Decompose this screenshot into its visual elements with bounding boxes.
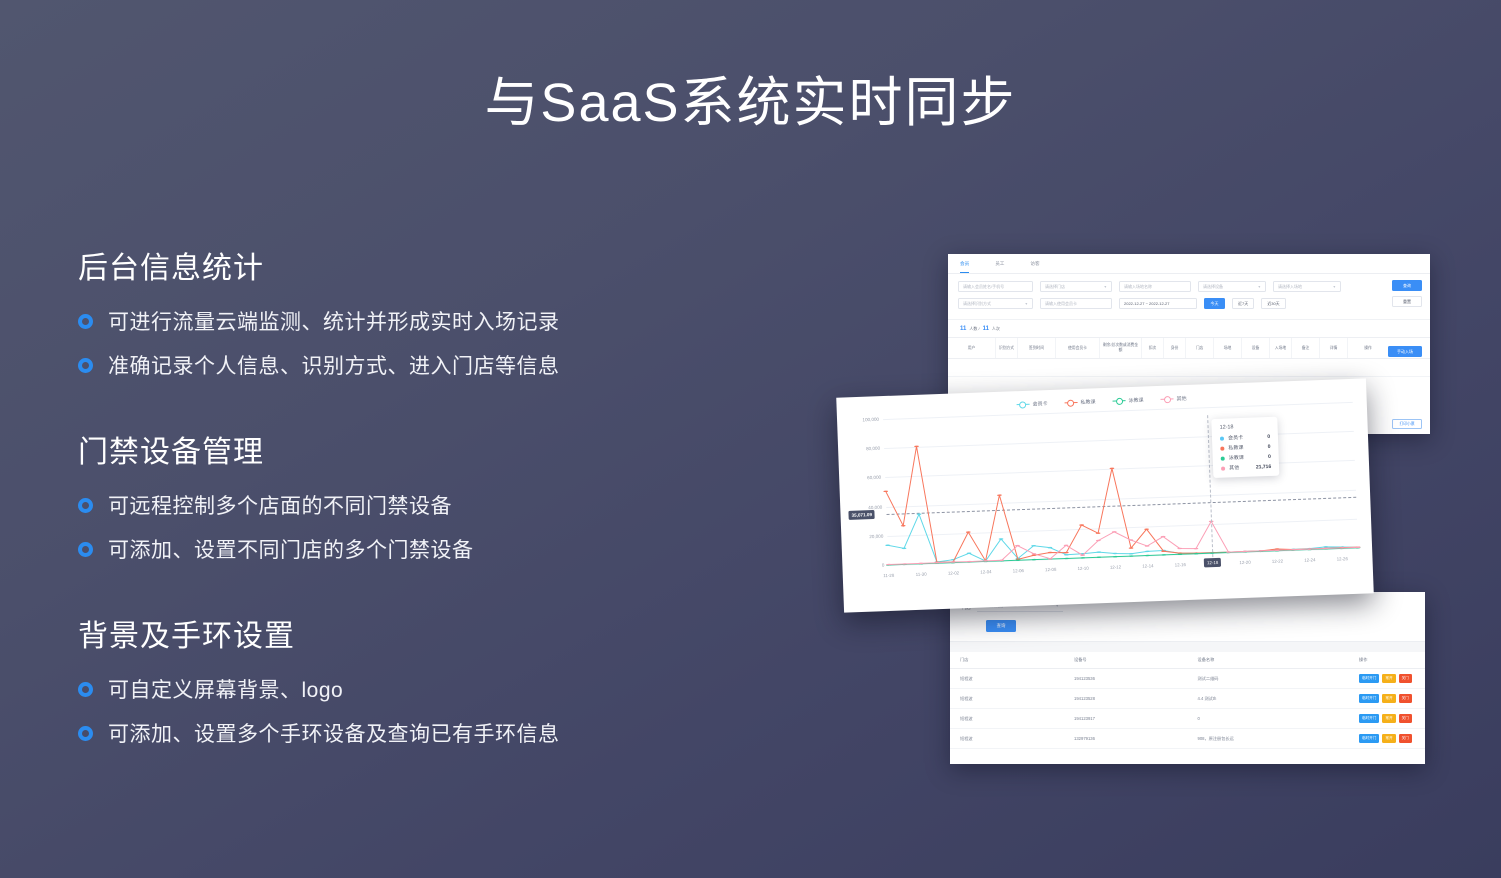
open-always-button[interactable]: 常开 (1382, 674, 1395, 683)
legend-label: 泳教课 (1128, 397, 1143, 405)
bullet-icon (78, 682, 93, 697)
open-temporary-button[interactable]: 临时开门 (1359, 734, 1379, 743)
feature-text: 可添加、设置多个手环设备及查询已有手环信息 (108, 718, 560, 748)
feature-text: 可远程控制多个店面的不同门禁设备 (108, 490, 452, 520)
chevron-down-icon: ▼ (1333, 285, 1336, 289)
legend-label: 私教课 (1080, 398, 1095, 406)
x-axis-tick-label: 12-20 (1239, 560, 1250, 565)
bullet-icon (78, 498, 93, 513)
tooltip-series-value: 0 (1268, 453, 1271, 459)
feature-block-1: 门禁设备管理 可远程控制多个店面的不同门禁设备 可添加、设置不同门店的多个门禁设… (78, 427, 778, 564)
cell-device-name: 4.4 测试th (1188, 689, 1350, 709)
x-axis-tick-label: 12-14 (1142, 563, 1153, 568)
series-point (997, 494, 1002, 496)
th-remaining: 剩余/总次数或消费金额 (1100, 338, 1142, 358)
legend-label: 会员卡 (1032, 400, 1047, 408)
feature-item: 可添加、设置不同门店的多个门禁设备 (78, 534, 778, 564)
device-query-button[interactable]: 查询 (986, 620, 1016, 632)
store-select[interactable]: 请选择门店▼ (1040, 281, 1112, 292)
tooltip-row: 泳教课 0 (1221, 453, 1271, 462)
series-point (1129, 553, 1134, 555)
filter-actions: 查询 重置 (1392, 280, 1422, 307)
close-door-button[interactable]: 关门 (1399, 674, 1412, 683)
bullet-icon (78, 358, 93, 373)
th-identity: 身份 (1164, 338, 1186, 358)
open-always-button[interactable]: 常开 (1382, 694, 1395, 703)
placeholder-text: 请输入使用会员卡 (1045, 301, 1077, 307)
cell-store: 短程波 (950, 669, 1064, 689)
open-always-button[interactable]: 常开 (1382, 734, 1395, 743)
range-today-button[interactable]: 今天 (1204, 298, 1225, 309)
close-door-button[interactable]: 关门 (1399, 694, 1412, 703)
x-axis-tick-label: 12-26 (1337, 556, 1348, 561)
cell-device-no: 194123528 (1064, 689, 1188, 709)
feature-item: 可进行流量云端监测、统计并形成实时入场记录 (78, 306, 778, 336)
chevron-down-icon: ▼ (1104, 285, 1107, 289)
th-store: 门店 (1186, 338, 1214, 358)
feature-item: 准确记录个人信息、识别方式、进入门店等信息 (78, 350, 778, 380)
cell-store: 短程波 (950, 709, 1064, 729)
cell-operations: 临时开门 常开 关门 (1349, 709, 1425, 729)
legend-marker-icon (1065, 402, 1078, 404)
member-name-input[interactable]: 请输入会员姓名/手机号 (958, 281, 1033, 292)
open-always-button[interactable]: 常开 (1382, 714, 1395, 723)
device-management-screenshot: 门店 --请选择门店-- ▼ 查询 门店 设备号 设备名称 操作 短程波 194… (950, 592, 1425, 764)
series-point (1323, 546, 1328, 548)
tooltip-series-value: 0 (1268, 443, 1271, 449)
x-axis-tick-label: 12-08 (1045, 567, 1056, 572)
open-temporary-button[interactable]: 临时开门 (1359, 694, 1379, 703)
series-point (883, 490, 888, 492)
manual-entry-button[interactable]: 手动入场 (1388, 346, 1422, 357)
chevron-down-icon: ▼ (1025, 302, 1028, 306)
tooltip-series-name: 私教课 (1228, 443, 1267, 451)
range-30days-button[interactable]: 近30天 (1261, 298, 1285, 309)
table-row[interactable]: 短程波 194123536 测试二维码 临时开门 常开 关门 (950, 669, 1425, 689)
feature-item: 可自定义屏幕背景、logo (78, 674, 778, 704)
x-axis-tick-label: 12-24 (1304, 557, 1315, 562)
operation-buttons: 临时开门 常开 关门 (1359, 734, 1425, 743)
legend-item[interactable]: 私教课 (1064, 398, 1095, 406)
operation-buttons: 临时开门 常开 关门 (1359, 694, 1425, 703)
date-range-input[interactable]: 2022-12-27 ~ 2022-12-27 (1119, 298, 1197, 309)
series-point (1275, 548, 1280, 550)
legend-label: 其他 (1176, 395, 1186, 402)
cell-device-name: 908，原注册包长远 (1188, 729, 1350, 749)
section-divider (950, 641, 1425, 652)
visits-count: 11 (983, 326, 989, 332)
cell-device-no: 194123917 (1064, 709, 1188, 729)
th-operation: 操作 (1348, 338, 1388, 358)
feature-heading: 后台信息统计 (78, 243, 778, 287)
series-dot-icon (1221, 456, 1225, 460)
placeholder-text: 请输入场地名称 (1124, 284, 1152, 290)
feature-text: 可添加、设置不同门店的多个门禁设备 (108, 534, 474, 564)
tooltip-series-name: 泳教课 (1229, 453, 1268, 461)
th-device-no: 设备号 (1064, 652, 1188, 669)
legend-marker-icon (1161, 398, 1174, 400)
open-temporary-button[interactable]: 临时开门 (1359, 714, 1379, 723)
reset-button[interactable]: 重置 (1392, 296, 1422, 307)
cell-operations: 临时开门 常开 关门 (1349, 669, 1425, 689)
legend-item[interactable]: 其他 (1160, 395, 1186, 403)
cell-operations: 临时开门 常开 关门 (1349, 729, 1425, 749)
page-title: 与SaaS系统实时同步 (0, 74, 1501, 133)
placeholder-text: 请选择识别方式 (963, 301, 991, 307)
legend-item[interactable]: 会员卡 (1016, 400, 1047, 408)
threshold-label: 35,071.09 (848, 510, 875, 520)
date-range-value: 2022-12-27 ~ 2022-12-27 (1124, 301, 1169, 306)
series-point (1110, 468, 1115, 470)
legend-marker-icon (1017, 403, 1030, 405)
tab-member[interactable]: 会员 (960, 261, 969, 273)
series-point (917, 513, 922, 515)
tooltip-series-value: 21,716 (1256, 463, 1272, 470)
placeholder-text: 请选择设备 (1203, 284, 1223, 290)
x-axis-tick-label: 12-06 (1013, 568, 1024, 573)
th-operation: 操作 (1349, 652, 1425, 669)
cell-device-no: 194123536 (1064, 669, 1188, 689)
traffic-chart-screenshot: 会员卡 私教课 泳教课 其他 020,00040,00060,00080,000… (836, 378, 1374, 612)
y-axis-tick-label: 20,000 (849, 533, 883, 539)
th-user: 用户 (948, 338, 996, 358)
th-store: 门店 (950, 652, 1064, 669)
operation-buttons: 临时开门 常开 关门 (1359, 714, 1425, 723)
stats-row: 11 人数 / 11 人次 (948, 319, 1430, 337)
series-dot-icon (1221, 466, 1225, 470)
y-axis-tick-label: 60,000 (847, 475, 881, 481)
tooltip-title: 12-18 (1220, 423, 1270, 431)
x-axis-tick-label: 12-16 (1175, 562, 1186, 567)
legend-marker-icon (1113, 400, 1126, 402)
close-door-button[interactable]: 关门 (1399, 714, 1412, 723)
tab-bar: 会员 员工 访客 (948, 254, 1430, 274)
tab-visitor[interactable]: 访客 (1030, 261, 1039, 273)
series-point (966, 531, 971, 533)
feature-item: 可添加、设置多个手环设备及查询已有手环信息 (78, 718, 778, 748)
x-axis-tick-label: 12-12 (1110, 564, 1121, 569)
th-card-used: 使用会员卡 (1056, 338, 1100, 358)
people-unit: 人数 / (969, 326, 979, 332)
filter-row-2: 请选择识别方式▼ 请输入使用会员卡 2022-12-27 ~ 2022-12-2… (958, 298, 1420, 309)
series-lines (883, 402, 1358, 565)
membership-card-input[interactable]: 请输入使用会员卡 (1040, 298, 1112, 309)
screenshot-cluster: 会员 员工 访客 请输入会员姓名/手机号 请选择门店▼ 请输入场地名称 请选择设… (830, 240, 1450, 780)
tooltip-row: 会员卡 0 (1220, 433, 1270, 442)
series-point (901, 525, 906, 527)
visits-unit: 人次 (992, 326, 1000, 332)
feature-heading: 背景及手环设置 (78, 611, 778, 655)
bullet-icon (78, 542, 93, 557)
entry-point-select[interactable]: 请选择入场地▼ (1273, 281, 1341, 292)
tooltip-series-name: 会员卡 (1228, 433, 1267, 441)
table-header-row: 用户 识别方式 签到时间 使用会员卡 剩余/总次数或消费金额 扣次 身份 门店 … (948, 337, 1430, 359)
print-receipt-button[interactable]: 打印小票 (1392, 419, 1422, 429)
y-axis-tick-label: 80,000 (846, 446, 880, 452)
cell-device-name: 测试二维码 (1188, 669, 1350, 689)
close-door-button[interactable]: 关门 (1399, 734, 1412, 743)
cell-store: 短程波 (950, 729, 1064, 749)
series-point (999, 538, 1004, 540)
query-button[interactable]: 查询 (1392, 280, 1422, 291)
bullet-icon (78, 314, 93, 329)
th-venue: 场地 (1214, 338, 1242, 358)
venue-input[interactable]: 请输入场地名称 (1119, 281, 1191, 292)
recognition-method-select[interactable]: 请选择识别方式▼ (958, 298, 1033, 309)
feature-heading: 门禁设备管理 (78, 427, 778, 471)
table-row[interactable]: 短程波 194123528 4.4 测试th 临时开门 常开 关门 (950, 689, 1425, 709)
th-entry-point: 入场地 (1270, 338, 1292, 358)
th-recognition: 识别方式 (996, 338, 1018, 358)
feature-block-0: 后台信息统计 可进行流量云端监测、统计并形成实时入场记录 准确记录个人信息、识别… (78, 243, 778, 380)
feature-block-2: 背景及手环设置 可自定义屏幕背景、logo 可添加、设置多个手环设备及查询已有手… (78, 611, 778, 748)
series-point (1096, 540, 1101, 542)
cell-operations: 临时开门 常开 关门 (1349, 689, 1425, 709)
filter-row-1: 请输入会员姓名/手机号 请选择门店▼ 请输入场地名称 请选择设备▼ 请选择入场地… (958, 281, 1420, 292)
legend-item[interactable]: 泳教课 (1112, 397, 1143, 405)
bullet-icon (78, 726, 93, 741)
th-device: 设备 (1242, 338, 1270, 358)
people-count: 11 (960, 326, 966, 332)
table-row[interactable] (948, 359, 1430, 377)
series-line (884, 430, 1358, 564)
feature-text: 可进行流量云端监测、统计并形成实时入场记录 (108, 306, 560, 336)
tooltip-series-name: 其他 (1229, 463, 1256, 471)
tooltip-series-value: 0 (1267, 433, 1270, 439)
feature-list: 后台信息统计 可进行流量云端监测、统计并形成实时入场记录 准确记录个人信息、识别… (78, 243, 778, 748)
x-axis-tick-label: 11-28 (883, 573, 894, 578)
feature-text: 可自定义屏幕背景、logo (108, 674, 343, 704)
cell-device-name: 0 (1188, 709, 1350, 729)
operation-buttons: 临时开门 常开 关门 (1359, 674, 1425, 683)
th-remark: 备注 (1292, 338, 1320, 358)
x-axis-tick-label-active: 12-18 (1204, 558, 1222, 568)
series-point (1194, 548, 1199, 550)
series-dot-icon (1220, 446, 1224, 450)
cell-store: 短程波 (950, 689, 1064, 709)
tab-staff[interactable]: 员工 (995, 261, 1004, 273)
table-header-row: 门店 设备号 设备名称 操作 (950, 652, 1425, 669)
tooltip-row: 私教课 0 (1220, 443, 1270, 452)
series-point (914, 446, 919, 448)
series-point (1064, 552, 1069, 554)
device-select[interactable]: 请选择设备▼ (1198, 281, 1266, 292)
x-axis-tick-label: 12-10 (1077, 566, 1088, 571)
device-table: 门店 设备号 设备名称 操作 短程波 194123536 测试二维码 临时开门 … (950, 652, 1425, 749)
cell-device-no: 132979136 (1064, 729, 1188, 749)
x-axis-tick-label: 12-02 (948, 570, 959, 575)
table-row[interactable]: 短程波 132979136 908，原注册包长远 临时开门 常开 关门 (950, 729, 1425, 749)
placeholder-text: 请输入会员姓名/手机号 (963, 284, 1004, 290)
range-7days-button[interactable]: 近7天 (1232, 298, 1254, 309)
series-point (1144, 528, 1149, 530)
y-axis-tick-label: 100,000 (845, 417, 879, 423)
chart-tooltip: 12-18 会员卡 0 私教课 0 泳教课 0 (1211, 417, 1279, 478)
chevron-down-icon: ▼ (1258, 285, 1261, 289)
series-point (1129, 547, 1134, 549)
x-axis-tick-label: 12-04 (980, 569, 991, 574)
th-checkin-time: 签到时间 (1018, 338, 1056, 358)
th-deduct: 扣次 (1142, 338, 1164, 358)
filter-panel: 请输入会员姓名/手机号 请选择门店▼ 请输入场地名称 请选择设备▼ 请选择入场地… (948, 274, 1430, 319)
feature-item: 可远程控制多个店面的不同门禁设备 (78, 490, 778, 520)
x-axis-tick-label: 12-22 (1272, 559, 1283, 564)
th-detail: 详情 (1320, 338, 1348, 358)
series-dot-icon (1220, 436, 1224, 440)
th-device-name: 设备名称 (1188, 652, 1350, 669)
open-temporary-button[interactable]: 临时开门 (1359, 674, 1379, 683)
tooltip-row: 其他 21,716 (1221, 463, 1271, 472)
y-axis-tick-label: 0 (850, 563, 884, 569)
chart-plot-area: 020,00040,00060,00080,000100,000 35,071.… (845, 402, 1365, 589)
feature-text: 准确记录个人信息、识别方式、进入门店等信息 (108, 350, 560, 380)
x-axis-tick-label: 11-30 (916, 572, 927, 577)
placeholder-text: 请选择入场地 (1278, 284, 1302, 290)
table-row[interactable]: 短程波 194123917 0 临时开门 常开 关门 (950, 709, 1425, 729)
placeholder-text: 请选择门店 (1045, 284, 1065, 290)
